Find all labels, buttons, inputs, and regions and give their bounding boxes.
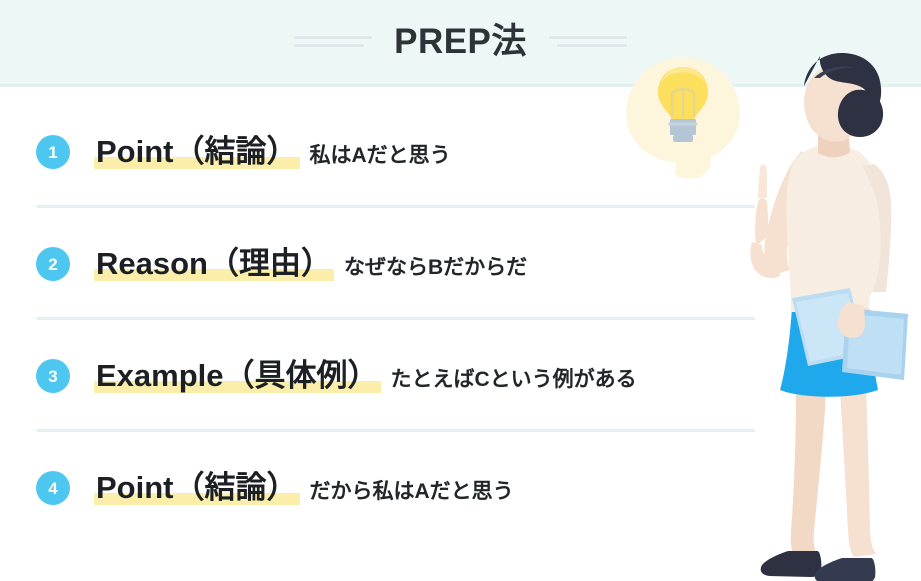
double-line-decoration-left-icon bbox=[294, 31, 372, 51]
business-woman-illustration bbox=[736, 46, 921, 581]
step-heading: Example（具体例） bbox=[94, 358, 381, 394]
step-text: Reason（理由） なぜならBだからだ bbox=[94, 246, 527, 282]
step-number-badge: 1 bbox=[36, 135, 70, 169]
step-text: Point（結論） だから私はAだと思う bbox=[94, 470, 514, 506]
step-description: たとえばCという例がある bbox=[391, 367, 637, 392]
step-heading: Point（結論） bbox=[94, 470, 300, 506]
page-title: PREP法 bbox=[394, 24, 527, 59]
step-number-badge: 2 bbox=[36, 247, 70, 281]
step-heading: Reason（理由） bbox=[94, 246, 334, 282]
step-number-badge: 3 bbox=[36, 359, 70, 393]
double-line-decoration-right-icon bbox=[549, 31, 627, 51]
lightbulb-icon bbox=[655, 65, 711, 153]
legs bbox=[791, 391, 876, 557]
hair-bun bbox=[838, 90, 883, 137]
step-text: Point（結論） 私はAだと思う bbox=[94, 134, 451, 170]
step-description: 私はAだと思う bbox=[310, 143, 451, 168]
step-description: なぜならBだからだ bbox=[344, 255, 527, 280]
prep-method-poster: PREP法 1 Point（結論） 私はAだと思う 2 Reason（理由） bbox=[0, 0, 921, 581]
step-text: Example（具体例） たとえばCという例がある bbox=[94, 358, 637, 394]
step-heading: Point（結論） bbox=[94, 134, 300, 170]
step-description: だから私はAだと思う bbox=[310, 479, 514, 504]
step-number-badge: 4 bbox=[36, 471, 70, 505]
